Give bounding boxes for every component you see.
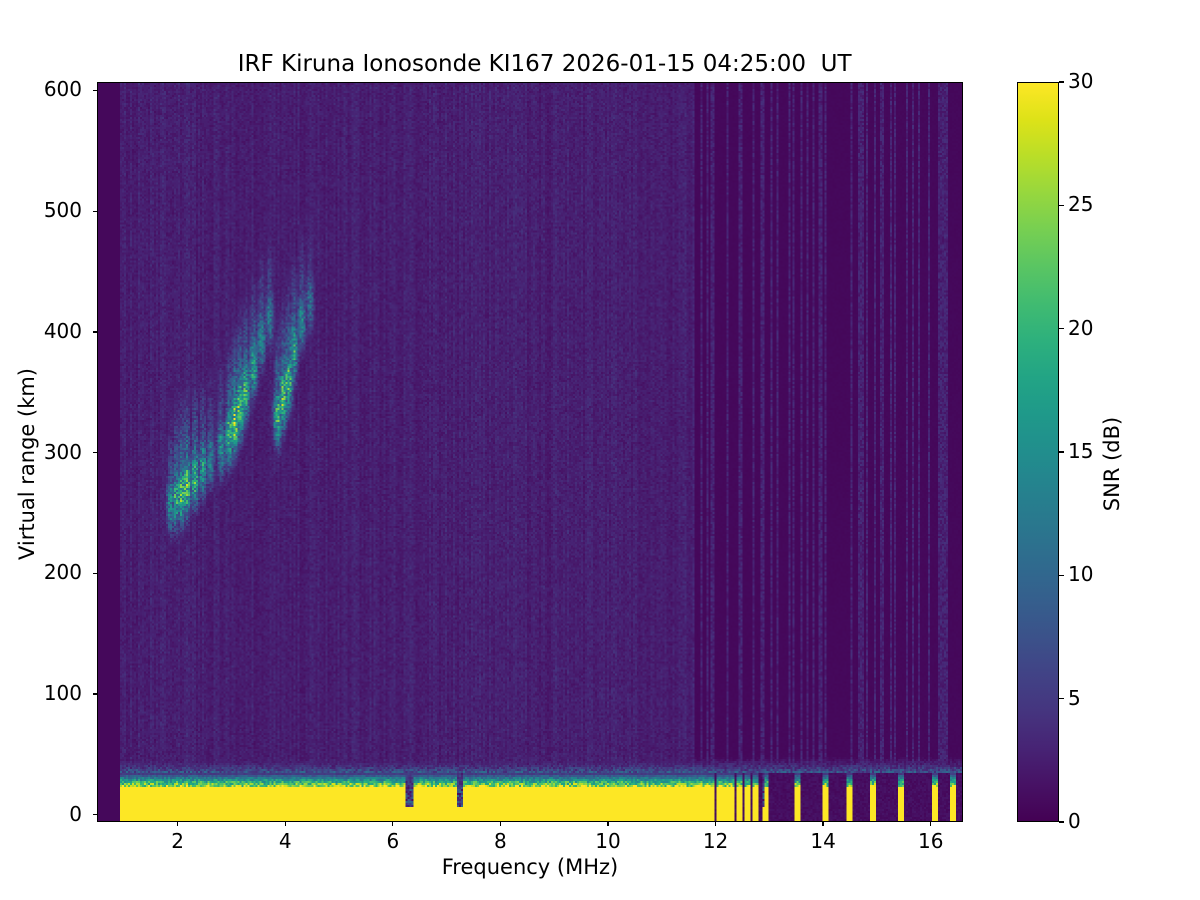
- x-tick-label: 16: [896, 829, 966, 853]
- colorbar-tick-label: 10: [1068, 562, 1093, 586]
- colorbar[interactable]: [1017, 82, 1059, 822]
- colorbar-tick-mark: [1059, 81, 1064, 82]
- y-tick-mark: [93, 693, 97, 694]
- colorbar-tick-mark: [1059, 698, 1064, 699]
- ionogram-canvas-wrap: [98, 83, 962, 821]
- x-axis-title: Frequency (MHz): [97, 855, 963, 879]
- x-tick-label: 12: [681, 829, 751, 853]
- x-tick-mark: [500, 822, 501, 826]
- y-tick-label: 300: [0, 440, 82, 464]
- colorbar-tick-label: 0: [1068, 809, 1081, 833]
- y-tick-label: 400: [0, 319, 82, 343]
- y-tick-label: 500: [0, 198, 82, 222]
- colorbar-title: SNR (dB): [1100, 314, 1124, 614]
- x-tick-mark: [285, 822, 286, 826]
- colorbar-tick-label: 30: [1068, 69, 1093, 93]
- colorbar-tick-mark: [1059, 205, 1064, 206]
- x-tick-mark: [822, 822, 823, 826]
- colorbar-tick-label: 5: [1068, 686, 1081, 710]
- ionogram-heatmap[interactable]: [98, 83, 962, 821]
- colorbar-tick-mark: [1059, 821, 1064, 822]
- y-tick-mark: [93, 573, 97, 574]
- x-tick-label: 6: [358, 829, 428, 853]
- y-tick-mark: [93, 331, 97, 332]
- colorbar-tick-label: 15: [1068, 439, 1093, 463]
- x-tick-mark: [930, 822, 931, 826]
- colorbar-tick-label: 20: [1068, 316, 1093, 340]
- x-tick-label: 2: [143, 829, 213, 853]
- x-tick-label: 10: [573, 829, 643, 853]
- x-tick-mark: [392, 822, 393, 826]
- y-tick-label: 0: [0, 802, 82, 826]
- plot-axes[interactable]: [97, 82, 963, 822]
- y-tick-mark: [93, 814, 97, 815]
- x-tick-mark: [177, 822, 178, 826]
- colorbar-gradient: [1018, 83, 1058, 821]
- x-tick-label: 4: [250, 829, 320, 853]
- colorbar-tick-mark: [1059, 328, 1064, 329]
- y-tick-mark: [93, 452, 97, 453]
- colorbar-tick-mark: [1059, 575, 1064, 576]
- y-tick-label: 100: [0, 681, 82, 705]
- y-tick-mark: [93, 211, 97, 212]
- ionogram-figure: IRF Kiruna Ionosonde KI167 2026-01-15 04…: [0, 0, 1200, 900]
- title-line-1: IRF Kiruna Ionosonde KI167 2026-01-15 04…: [238, 51, 852, 77]
- x-tick-label: 8: [465, 829, 535, 853]
- x-tick-mark: [607, 822, 608, 826]
- y-tick-mark: [93, 90, 97, 91]
- colorbar-tick-mark: [1059, 451, 1064, 452]
- colorbar-tick-label: 25: [1068, 192, 1093, 216]
- y-tick-label: 600: [0, 77, 82, 101]
- x-tick-mark: [715, 822, 716, 826]
- y-tick-label: 200: [0, 560, 82, 584]
- x-tick-label: 14: [788, 829, 858, 853]
